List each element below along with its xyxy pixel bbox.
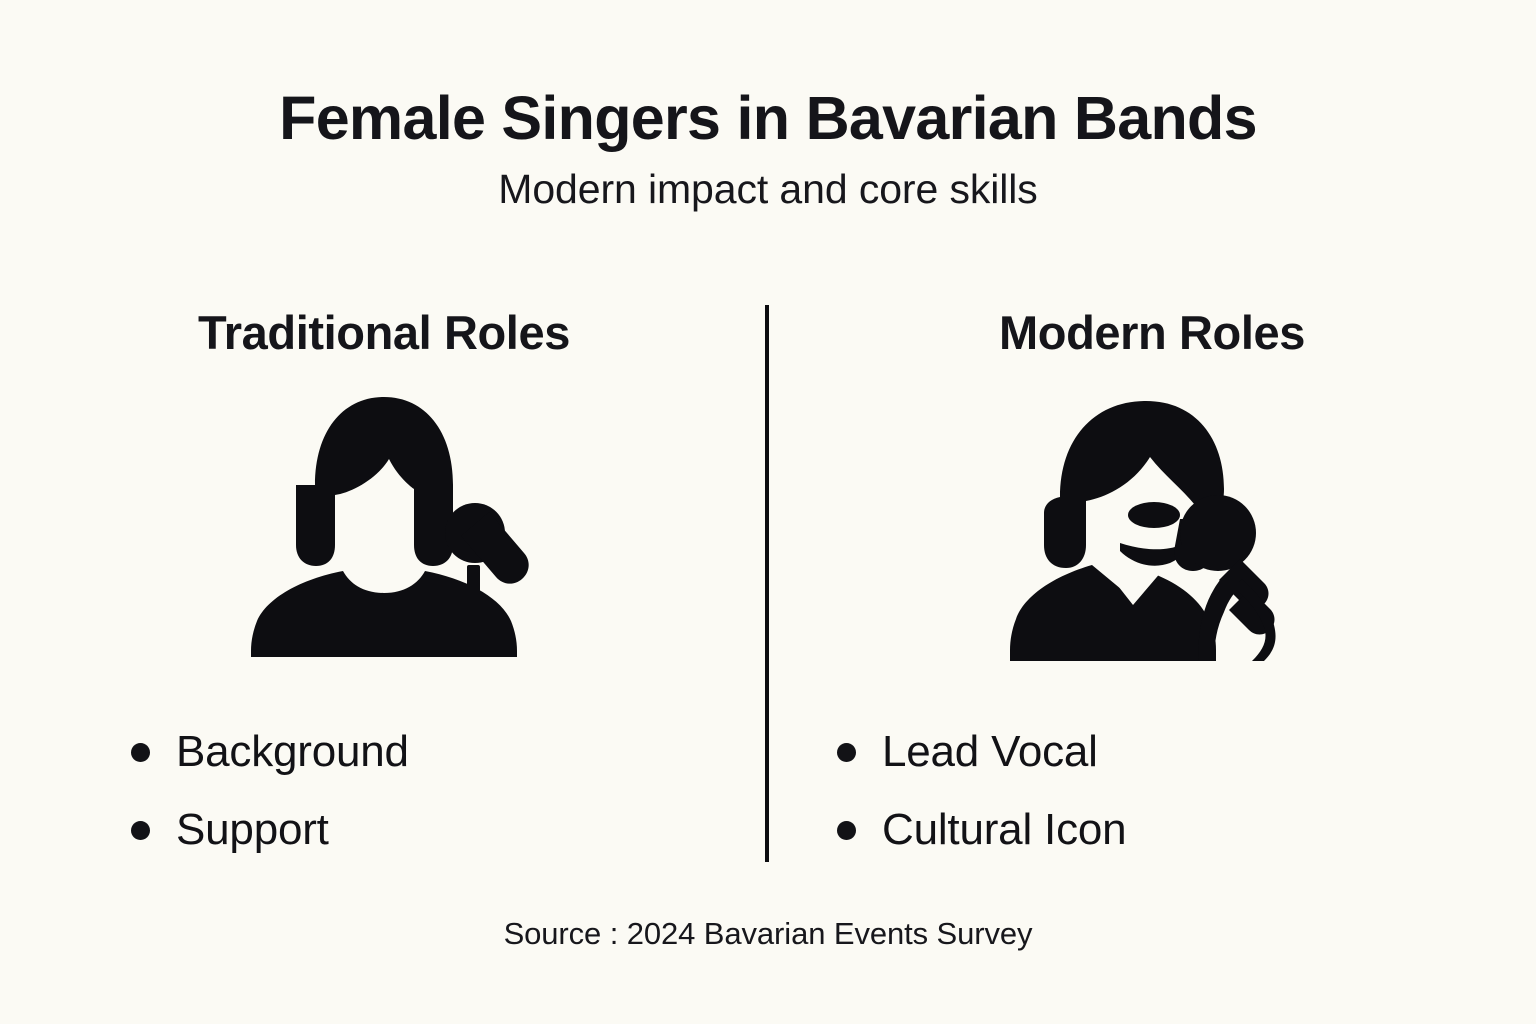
bullet-dot-icon <box>837 821 856 840</box>
bullet-label: Lead Vocal <box>882 730 1098 774</box>
female-singer-holding-handheld-mic-icon <box>1002 393 1302 665</box>
bullet-list-modern: Lead Vocal Cultural Icon <box>699 713 1536 869</box>
infographic-canvas: Female Singers in Bavarian Bands Modern … <box>0 0 1536 1024</box>
bullet-label: Background <box>176 730 409 774</box>
list-item: Cultural Icon <box>837 791 1536 869</box>
comparison-columns: Traditional Roles <box>0 296 1536 876</box>
column-traditional: Traditional Roles <box>0 296 768 876</box>
page-title: Female Singers in Bavarian Bands <box>0 86 1536 150</box>
source-note: Source : 2024 Bavarian Events Survey <box>0 916 1536 952</box>
bullet-dot-icon <box>131 743 150 762</box>
list-item: Lead Vocal <box>837 713 1536 791</box>
page-subtitle: Modern impact and core skills <box>0 167 1536 212</box>
female-singer-with-mic-stand-icon <box>239 393 529 665</box>
bullet-dot-icon <box>837 743 856 762</box>
column-heading-modern: Modern Roles <box>999 308 1305 357</box>
column-heading-traditional: Traditional Roles <box>198 308 570 357</box>
bullet-dot-icon <box>131 821 150 840</box>
bullet-label: Cultural Icon <box>882 808 1126 852</box>
bullet-label: Support <box>176 808 329 852</box>
header: Female Singers in Bavarian Bands Modern … <box>0 86 1536 212</box>
column-modern: Modern Roles <box>768 296 1536 876</box>
